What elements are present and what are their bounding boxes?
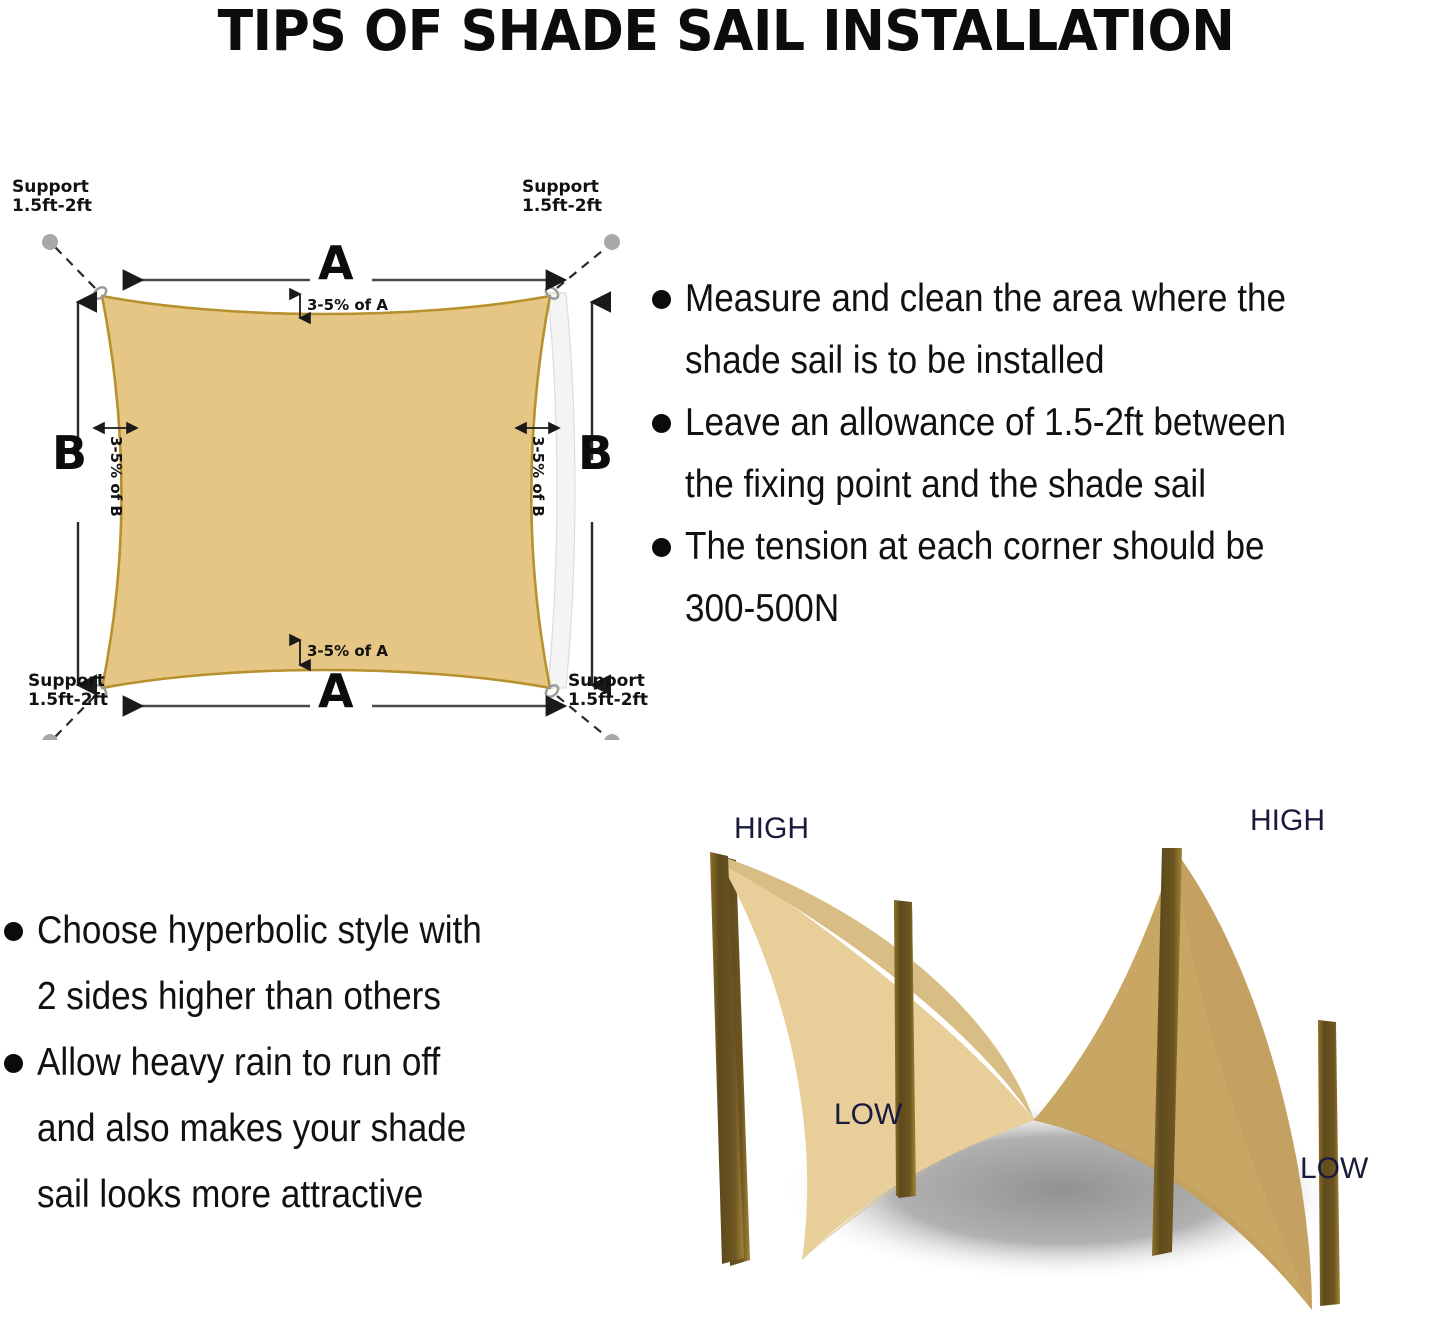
curvature-label-top: 3-5% of A [307,298,388,313]
support-label-top-right: Support 1.5ft-2ft [522,178,602,216]
bullet-line: shade sail is to be installed [685,330,1105,392]
bullet-dot-icon [652,414,671,433]
curvature-label-right: 3-5% of B [530,436,545,517]
bullet-line: Leave an allowance of 1.5-2ft between [685,392,1286,454]
support-label-bottom-left: Support 1.5ft-2ft [28,672,108,710]
bullet-line: 2 sides higher than others [37,964,441,1030]
list-item-continuation: sail looks more attractive [37,1162,644,1228]
hyperbolic-sail-illustration: HIGH HIGH LOW LOW [672,790,1452,1325]
label-low-left: LOW [834,1098,902,1132]
hyperbolic-tips-list: Choose hyperbolic style with 2 sides hig… [4,898,644,1228]
bullet-dot-icon [652,290,671,309]
bullet-dot-icon [652,538,671,557]
list-item: The tension at each corner should be [652,516,1452,578]
list-item: Choose hyperbolic style with [4,898,644,964]
dimension-letter-left-B: B [52,430,87,476]
shade-sail-dimension-diagram: Support 1.5ft-2ft Support 1.5ft-2ft Supp… [0,160,660,740]
list-item-continuation: and also makes your shade [37,1096,644,1162]
hyperbolic-sail-svg [672,790,1452,1325]
support-label-bottom-right: Support 1.5ft-2ft [568,672,648,710]
bullet-line: the fixing point and the shade sail [685,454,1206,516]
support-label-top-left: Support 1.5ft-2ft [12,178,92,216]
list-item: Allow heavy rain to run off [4,1030,644,1096]
list-item: Leave an allowance of 1.5-2ft between [652,392,1452,454]
page-title: TIPS OF SHADE SAIL INSTALLATION [51,0,1401,62]
bullet-line: 300-500N [685,578,839,640]
bullet-line: Measure and clean the area where the [685,268,1286,330]
bullet-line: The tension at each corner should be [685,516,1265,578]
list-item-continuation: shade sail is to be installed [685,330,1452,392]
label-high-right: HIGH [1250,804,1325,838]
bullet-dot-icon [4,922,23,941]
curvature-label-left: 3-5% of B [108,436,123,517]
list-item-continuation: 2 sides higher than others [37,964,644,1030]
shade-sail-shape [102,296,550,688]
sail-highlight-band [548,293,575,688]
bullet-line: sail looks more attractive [37,1162,423,1228]
dimension-letter-top-A: A [318,240,354,286]
bullet-line: Allow heavy rain to run off [37,1030,440,1096]
list-item-continuation: the fixing point and the shade sail [685,454,1452,516]
installation-tips-list: Measure and clean the area where the sha… [652,268,1452,640]
post-left-low [894,900,916,1196]
list-item-continuation: 300-500N [685,578,1452,640]
label-high-left: HIGH [734,812,809,846]
curvature-label-bottom: 3-5% of A [307,644,388,659]
list-item: Measure and clean the area where the [652,268,1452,330]
label-low-right: LOW [1300,1152,1368,1186]
bullet-dot-icon [4,1054,23,1073]
bullet-line: Choose hyperbolic style with [37,898,482,964]
bullet-line: and also makes your shade [37,1096,466,1162]
dimension-letter-bottom-A: A [318,668,354,714]
dimension-letter-right-B: B [578,430,613,476]
